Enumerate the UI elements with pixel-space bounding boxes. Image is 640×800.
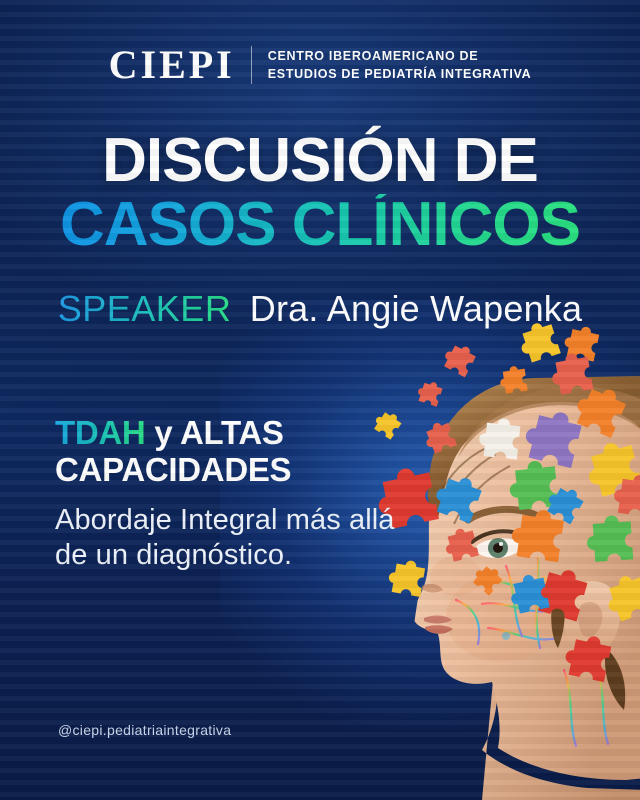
brand-tagline-line1: CENTRO IBEROAMERICANO DE [268, 47, 532, 65]
poster-canvas: CIEPI CENTRO IBEROAMERICANO DE ESTUDIOS … [0, 0, 640, 800]
brand-tagline-line2: ESTUDIOS DE PEDIATRÍA INTEGRATIVA [268, 65, 532, 83]
speaker-name: Dra. Angie Wapenka [250, 288, 582, 329]
social-handle: @ciepi.pediatriaintegrativa [58, 722, 231, 738]
topic-description: Abordaje Integral más allá de un diagnós… [55, 503, 405, 574]
title-line-1: DISCUSIÓN DE [0, 131, 640, 192]
topic-keyword-tdah: TDAH [55, 414, 145, 451]
poster-title: DISCUSIÓN DE CASOS CLÍNICOS [0, 131, 640, 256]
topic-heading-line-1: TDAH y ALTAS [55, 415, 405, 452]
brand-wordmark: CIEPI [109, 45, 251, 85]
title-line-2: CASOS CLÍNICOS [0, 194, 640, 256]
topic-block: TDAH y ALTAS CAPACIDADES Abordaje Integr… [55, 415, 405, 574]
speaker-label: SPEAKER [58, 288, 232, 329]
brand-logo: CIEPI CENTRO IBEROAMERICANO DE ESTUDIOS … [0, 45, 640, 85]
topic-heading-line-2: CAPACIDADES [55, 452, 405, 489]
brand-tagline: CENTRO IBEROAMERICANO DE ESTUDIOS DE PED… [252, 47, 532, 83]
topic-heading-rest: y ALTAS [145, 414, 283, 451]
speaker-row: SPEAKER Dra. Angie Wapenka [0, 288, 640, 330]
